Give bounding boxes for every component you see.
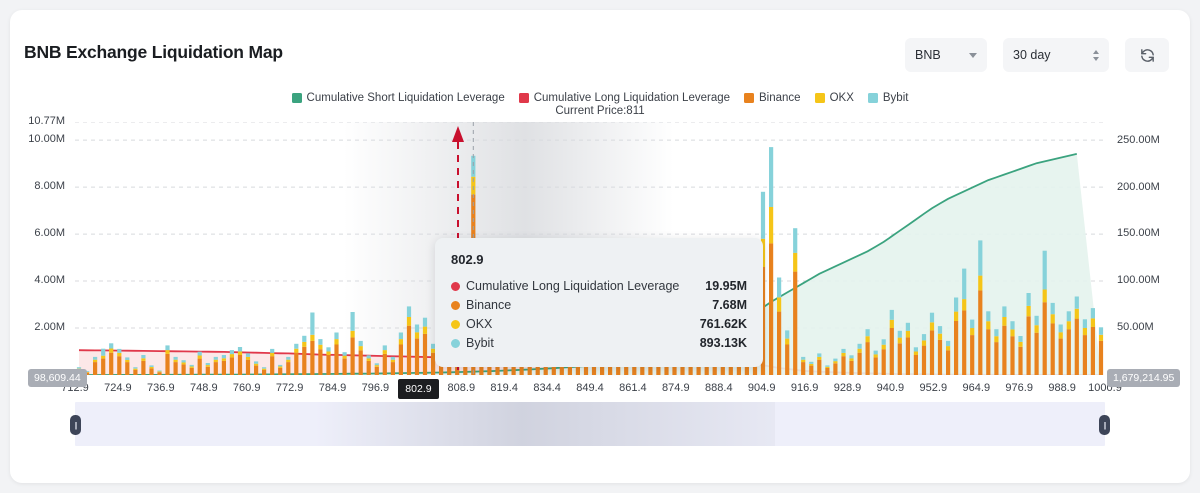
asset-select[interactable]: BNB [905, 38, 987, 72]
tooltip-series-name: OKX [466, 315, 690, 334]
tooltip-dot-binance-icon [451, 301, 460, 310]
y-axis-left-tick: 4.00M [10, 274, 65, 286]
range-select-value: 30 day [1013, 48, 1051, 62]
left-axis-badge: 98,609.44 [28, 369, 87, 387]
tooltip-dot-okx-icon [451, 320, 460, 329]
tooltip-series-value: 761.62K [700, 315, 747, 334]
card-header: BNB Exchange Liquidation Map BNB 30 day [10, 10, 1190, 88]
liquidation-map-card: BNB Exchange Liquidation Map BNB 30 day [10, 10, 1190, 483]
tooltip-row: Bybit 893.13K [451, 334, 747, 353]
slider-handle-left[interactable]: || [70, 415, 81, 435]
y-axis-right-tick: 50.00M [1117, 321, 1154, 333]
chevron-down-icon [969, 53, 977, 58]
legend-swatch-okx-icon [815, 93, 825, 103]
asset-select-value: BNB [915, 48, 941, 62]
refresh-icon [1139, 47, 1156, 64]
y-axis-left-tick: 2.00M [10, 321, 65, 333]
legend-swatch-bybit-icon [868, 93, 878, 103]
legend-item-binance[interactable]: Binance [744, 92, 801, 104]
y-axis-right-tick: 100.00M [1117, 274, 1160, 286]
tooltip-series-value: 19.95M [705, 277, 747, 296]
stepper-updown-icon [1093, 50, 1099, 61]
legend-label: Binance [759, 92, 801, 104]
slider-selected-range [315, 402, 775, 446]
y-axis-right-tick: 150.00M [1117, 227, 1160, 239]
tooltip-row: Cumulative Long Liquidation Leverage 19.… [451, 277, 747, 296]
y-axis-left-tick: 8.00M [10, 180, 65, 192]
legend-item-bybit[interactable]: Bybit [868, 92, 909, 104]
x-axis-tick: 796.9 [349, 382, 401, 394]
legend-row: Cumulative Short Liquidation Leverage Cu… [292, 92, 909, 104]
x-axis-active-tick: 802.9 [398, 379, 438, 399]
chart-legend: Cumulative Short Liquidation Leverage Cu… [10, 92, 1190, 117]
legend-label: Bybit [883, 92, 909, 104]
tooltip-title: 802.9 [451, 252, 747, 267]
chart-zoom-slider[interactable]: || || [75, 402, 1105, 446]
legend-item-cumulative-long[interactable]: Cumulative Long Liquidation Leverage [519, 92, 730, 104]
legend-label: Cumulative Long Liquidation Leverage [534, 92, 730, 104]
tooltip-series-value: 7.68M [712, 296, 747, 315]
legend-swatch-long-icon [519, 93, 529, 103]
legend-item-okx[interactable]: OKX [815, 92, 854, 104]
tooltip-row: Binance 7.68M [451, 296, 747, 315]
current-price-annotation: Current Price:811 [555, 105, 644, 117]
tooltip-series-name: Bybit [466, 334, 690, 353]
tooltip-row: OKX 761.62K [451, 315, 747, 334]
tooltip-series-value: 893.13K [700, 334, 747, 353]
tooltip-dot-long-icon [451, 282, 460, 291]
y-axis-left-tick: 10.77M [10, 115, 65, 127]
tooltip-dot-bybit-icon [451, 339, 460, 348]
refresh-button[interactable] [1125, 38, 1169, 72]
y-axis-right-tick: 250.00M [1117, 134, 1160, 146]
legend-swatch-short-icon [292, 93, 302, 103]
legend-swatch-binance-icon [744, 93, 754, 103]
page-title: BNB Exchange Liquidation Map [24, 42, 283, 63]
range-select[interactable]: 30 day [1003, 38, 1109, 72]
right-axis-badge: 1,679,214.95 [1107, 369, 1180, 387]
legend-label: Cumulative Short Liquidation Leverage [307, 92, 505, 104]
y-axis-right-tick: 200.00M [1117, 181, 1160, 193]
chart-tooltip: 802.9 Cumulative Long Liquidation Levera… [435, 238, 763, 367]
tooltip-series-name: Binance [466, 296, 702, 315]
y-axis-left-tick: 10.00M [10, 133, 65, 145]
slider-handle-right[interactable]: || [1099, 415, 1110, 435]
legend-item-cumulative-short[interactable]: Cumulative Short Liquidation Leverage [292, 92, 505, 104]
y-axis-left-tick: 6.00M [10, 227, 65, 239]
tooltip-series-name: Cumulative Long Liquidation Leverage [466, 277, 695, 296]
legend-label: OKX [830, 92, 854, 104]
